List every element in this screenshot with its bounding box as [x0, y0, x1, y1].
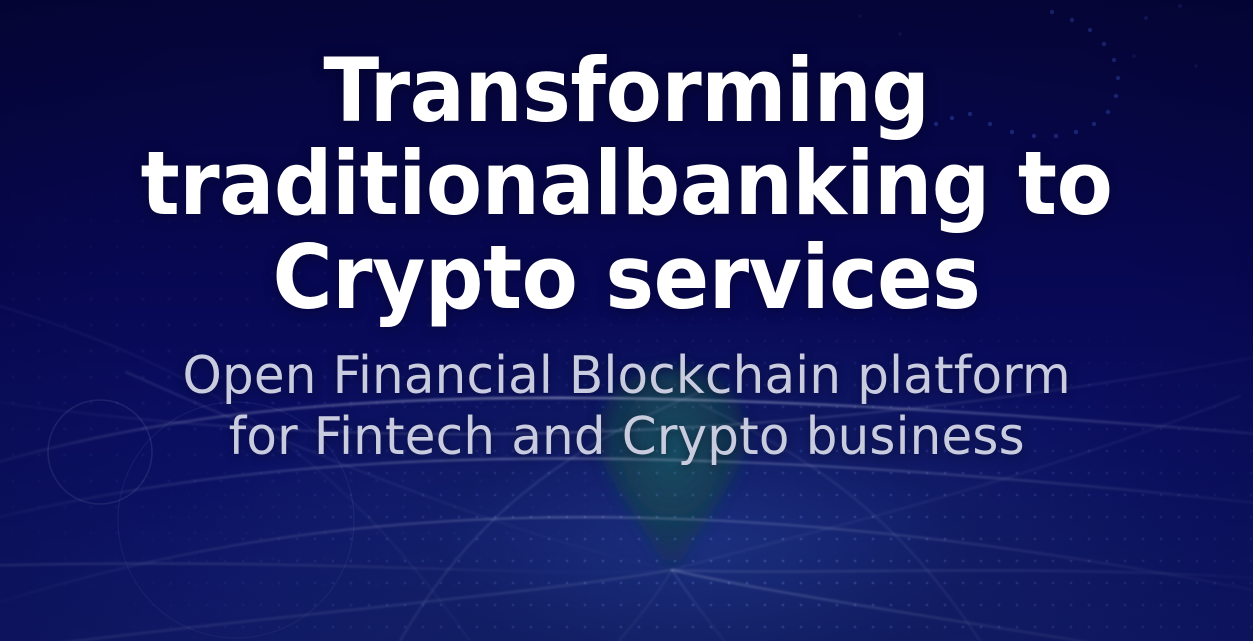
hero-content: Transforming traditionalbanking to Crypt… — [0, 0, 1253, 641]
subtitle-line-1: Open Financial Blockchain platform — [182, 346, 1070, 407]
page-subtitle: Open Financial Blockchain platform for F… — [182, 346, 1070, 469]
page-title: Transforming traditionalbanking to Crypt… — [141, 44, 1113, 324]
headline-line-3: Crypto services — [141, 231, 1113, 324]
headline-line-2: traditionalbanking to — [141, 137, 1113, 230]
subtitle-line-2: for Fintech and Crypto business — [182, 407, 1070, 468]
headline-line-1: Transforming — [141, 44, 1113, 137]
hero-banner: Transforming traditionalbanking to Crypt… — [0, 0, 1253, 641]
